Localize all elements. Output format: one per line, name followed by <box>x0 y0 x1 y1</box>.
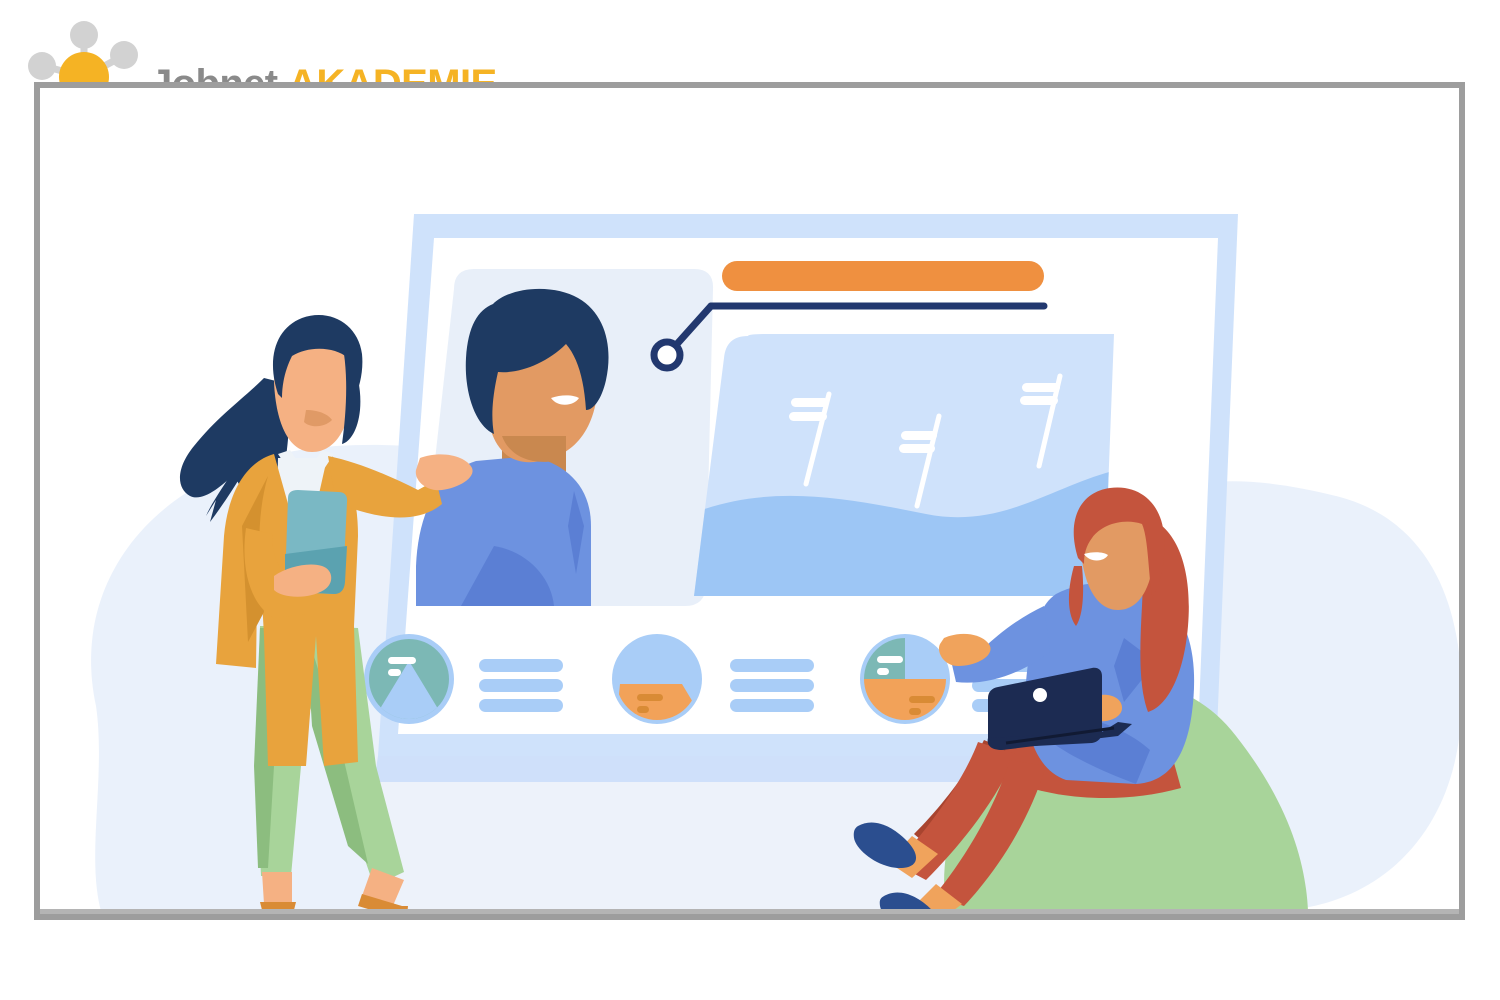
orange-title-bar[interactable] <box>722 261 1044 291</box>
online-training-illustration <box>34 82 1465 920</box>
area-chart[interactable] <box>686 334 1126 606</box>
stat-item-2-text-lines <box>730 659 814 712</box>
illustration-canvas <box>34 82 1465 920</box>
laptop-logo-icon <box>1033 688 1047 702</box>
pointer-callout-ring <box>654 342 680 368</box>
illustration-frame <box>34 82 1465 920</box>
stat-item-1-text-lines <box>479 659 563 712</box>
floor-line <box>34 909 1465 915</box>
woman-ankle-left <box>262 872 292 904</box>
